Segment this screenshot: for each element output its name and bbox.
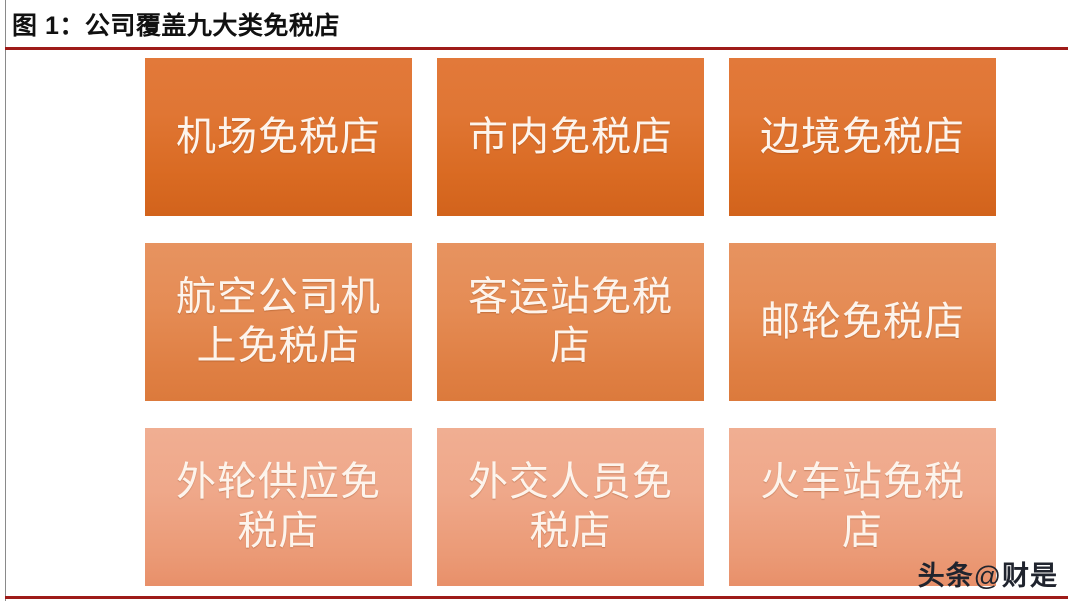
store-category-box[interactable]: 外轮供应免税店 [145,428,412,586]
store-category-label: 机场免税店 [176,113,381,162]
store-category-label: 边境免税店 [760,113,965,162]
left-border-rule [5,0,6,601]
title-divider-rule [5,47,1068,50]
figure-title: 图 1：公司覆盖九大类免税店 [12,9,340,43]
store-category-label: 邮轮免税店 [760,298,965,347]
store-category-box[interactable]: 边境免税店 [729,58,996,216]
store-category-grid: 机场免税店 市内免税店 边境免税店 航空公司机上免税店 客运站免税店 邮轮免税店… [145,58,997,586]
store-category-label: 外交人员免税店 [449,458,692,556]
watermark-account: 财是 [1002,561,1058,591]
store-category-label: 客运站免税店 [449,273,692,371]
figure-container: 图 1：公司覆盖九大类免税店 机场免税店 市内免税店 边境免税店 航空公司机上免… [0,0,1068,601]
store-category-box[interactable]: 客运站免税店 [437,243,704,401]
store-category-box[interactable]: 邮轮免税店 [729,243,996,401]
store-category-box[interactable]: 市内免税店 [437,58,704,216]
store-category-label: 外轮供应免税店 [157,458,400,556]
store-category-label: 火车站免税店 [741,458,984,556]
store-category-label: 市内免税店 [468,113,673,162]
store-category-box[interactable]: 机场免税店 [145,58,412,216]
store-category-label: 航空公司机上免税店 [157,273,400,371]
store-category-box[interactable]: 火车站免税店 [729,428,996,586]
bottom-divider-rule [5,596,1068,599]
store-category-box[interactable]: 外交人员免税店 [437,428,704,586]
store-category-box[interactable]: 航空公司机上免税店 [145,243,412,401]
